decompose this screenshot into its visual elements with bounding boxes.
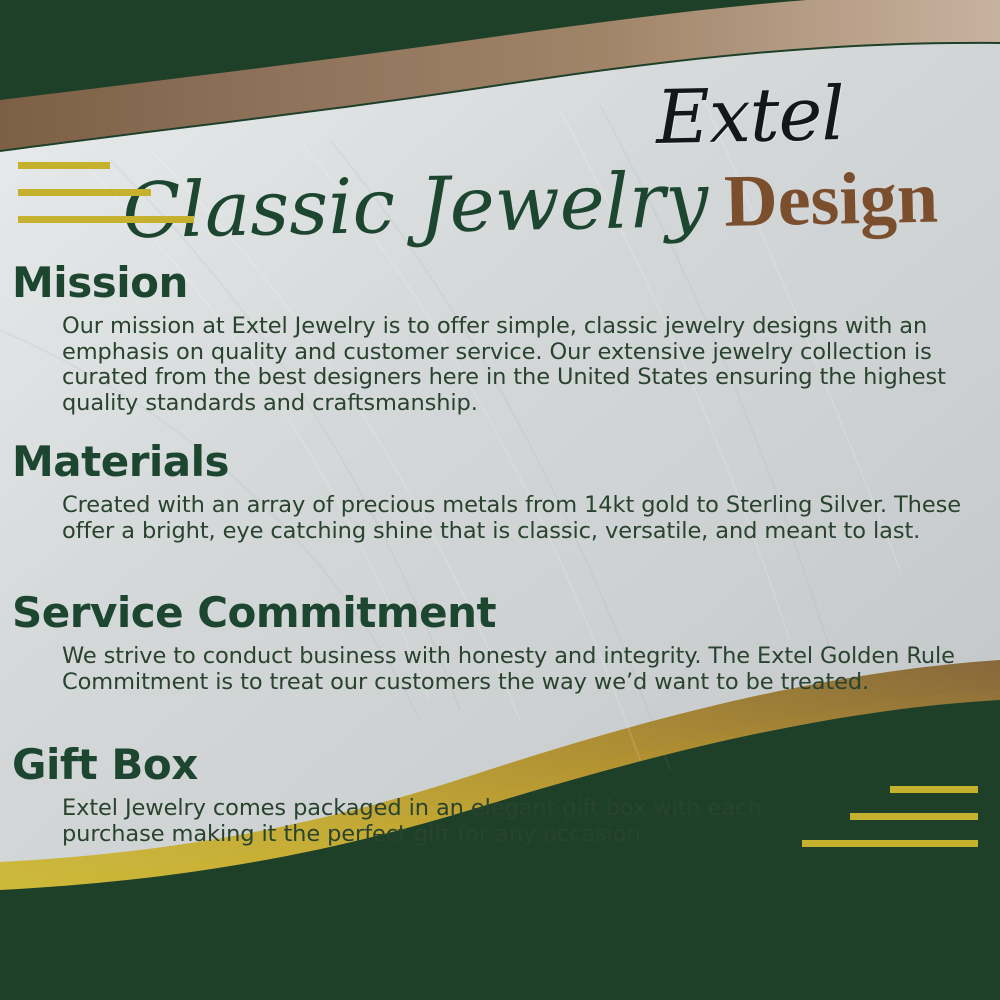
section-paragraph: We strive to conduct business with hones… xyxy=(62,644,972,695)
page-title-script: Classic Jewelry xyxy=(122,155,709,255)
section-heading: Mission xyxy=(12,258,1000,308)
decorative-bar xyxy=(18,162,110,169)
section-heading: Service Commitment xyxy=(12,588,1000,638)
section-paragraph: Our mission at Extel Jewelry is to offer… xyxy=(62,314,972,416)
poster-canvas: Extel Classic JewelryDesign Mission Our … xyxy=(0,0,1000,1000)
section-heading: Gift Box xyxy=(12,740,1000,790)
section-heading: Materials xyxy=(12,437,1000,487)
section-body: Created with an array of precious metals… xyxy=(62,493,972,544)
decorative-bar xyxy=(18,189,151,196)
section-service-commitment: Service Commitment We strive to conduct … xyxy=(0,588,1000,695)
section-body: Our mission at Extel Jewelry is to offer… xyxy=(62,314,972,416)
section-gift-box: Gift Box Extel Jewelry comes packaged in… xyxy=(0,740,1000,847)
section-paragraph: Extel Jewelry comes packaged in an elega… xyxy=(62,796,782,847)
section-body: We strive to conduct business with hones… xyxy=(62,644,972,695)
section-paragraph: Created with an array of precious metals… xyxy=(62,493,972,544)
page-title-serif: Design xyxy=(723,157,938,243)
decorative-bar xyxy=(18,216,194,223)
section-body: Extel Jewelry comes packaged in an elega… xyxy=(62,796,782,847)
poster-content: Extel Classic JewelryDesign Mission Our … xyxy=(0,0,1000,1000)
section-mission: Mission Our mission at Extel Jewelry is … xyxy=(0,258,1000,416)
section-materials: Materials Created with an array of preci… xyxy=(0,437,1000,544)
decorative-bars-top-left xyxy=(18,162,194,223)
